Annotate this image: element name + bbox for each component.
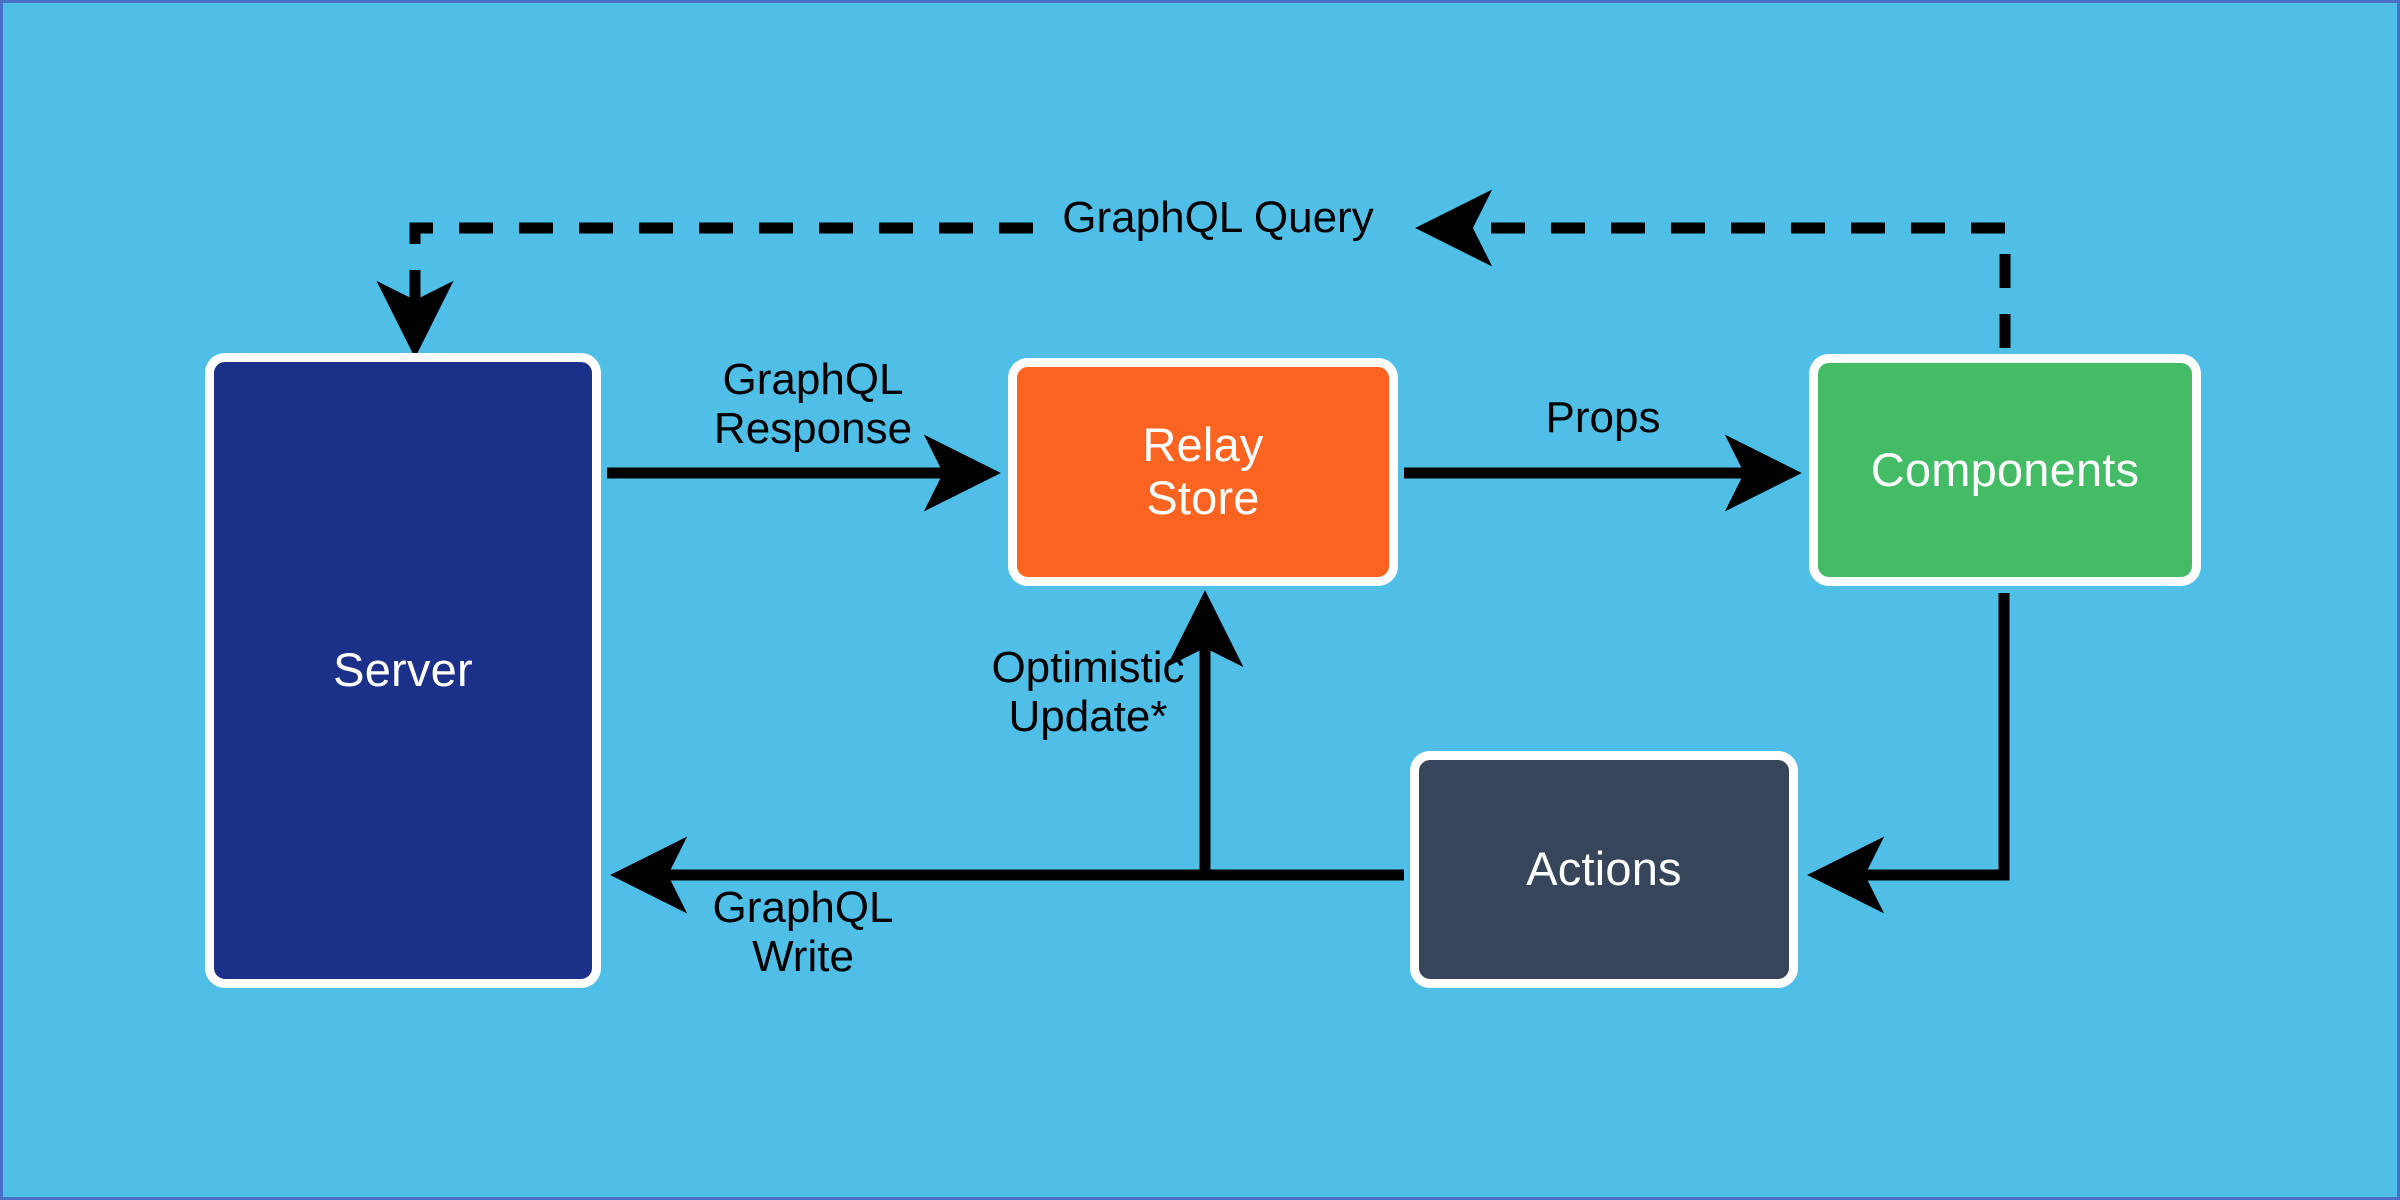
node-actions-label: Actions xyxy=(1526,843,1682,896)
edge-dispatch-line xyxy=(1820,593,2004,875)
node-server[interactable]: Server xyxy=(205,353,601,988)
edge-query-line-left xyxy=(415,228,1033,345)
node-server-label: Server xyxy=(333,644,473,697)
edge-label-optimistic-update: Optimistic Update* xyxy=(923,643,1253,742)
edge-label-graphql-response: GraphQL Response xyxy=(643,355,983,454)
node-actions[interactable]: Actions xyxy=(1410,751,1798,988)
edge-label-graphql-query: GraphQL Query xyxy=(1048,193,1388,242)
node-components-label: Components xyxy=(1871,444,2140,497)
edge-label-props: Props xyxy=(1463,393,1743,442)
edge-label-graphql-write: GraphQL Write xyxy=(633,883,973,982)
edge-query-line-right xyxy=(1428,228,2005,348)
diagram-canvas: Server Relay Store Components Actions Gr… xyxy=(0,0,2400,1200)
node-relay-store-label: Relay Store xyxy=(1142,419,1263,524)
node-components[interactable]: Components xyxy=(1809,354,2201,586)
node-relay-store[interactable]: Relay Store xyxy=(1008,358,1398,586)
